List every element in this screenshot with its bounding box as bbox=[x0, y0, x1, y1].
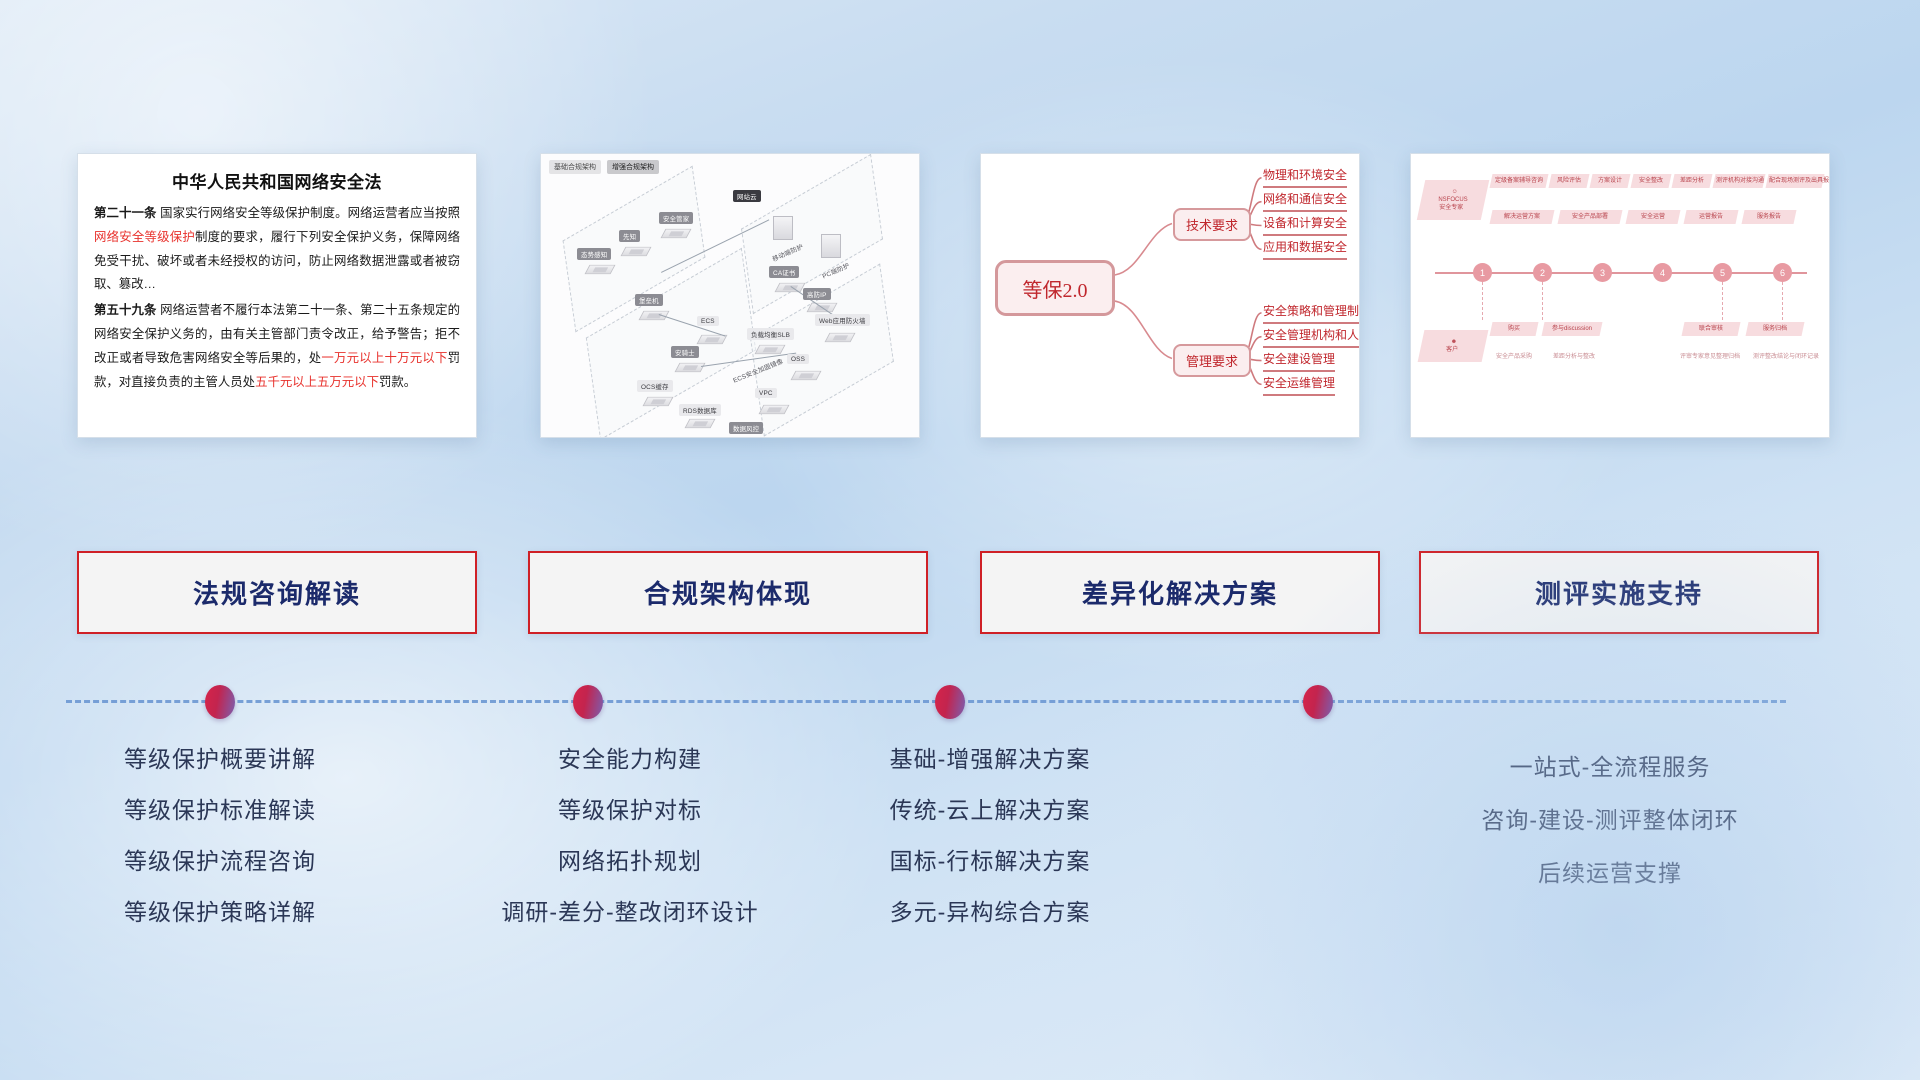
nsfocus-top-tag-2: 风险评估 bbox=[1549, 174, 1590, 188]
nsfocus-customer-badge: ☻ 客户 bbox=[1418, 330, 1489, 362]
detail-item: 传统-云上解决方案 bbox=[790, 799, 1190, 822]
node-box-waf bbox=[825, 333, 856, 342]
nsfocus-top-tag-7: 配合现场测评及出具报告材料 bbox=[1766, 174, 1825, 188]
detail-item: 调研-差分-整改闭环设计 bbox=[430, 901, 830, 924]
detail-column-4: 一站式-全流程服务 咨询-建设-测评整体闭环 后续运营支撑 bbox=[1410, 756, 1810, 915]
detail-item: 等级保护策略详解 bbox=[20, 901, 420, 924]
node-box-anqishi bbox=[675, 363, 706, 372]
node-server-mobile-protection bbox=[773, 216, 793, 240]
nsfocus-review-sub-1: 评审专家意见整理归档 bbox=[1672, 350, 1749, 364]
node-box-xianzhi bbox=[621, 247, 652, 256]
label-cloud-shield: 网站云 bbox=[733, 190, 761, 202]
card-compliance-architecture: 基础合规架构 增强合规架构 bbox=[540, 153, 920, 438]
nsfocus-expert-badge: ☺ NSFOCUS 安全专家 bbox=[1417, 180, 1490, 220]
law-21-run-1: 网络安全等级保护 bbox=[94, 230, 195, 244]
nsfocus-top-tag-5: 差距分析 bbox=[1672, 174, 1713, 188]
mindmap-root-node: 等保2.0 bbox=[995, 260, 1115, 316]
nsfocus-node-6: 6 bbox=[1773, 263, 1792, 282]
card-assessment-support: ☺ NSFOCUS 安全专家 定级备案辅导咨询 风险评估 方案设计 安全整改 差… bbox=[1410, 153, 1830, 438]
nsfocus-review-block-1: 联合审核 bbox=[1682, 322, 1741, 336]
nsfocus-node-4: 4 bbox=[1653, 263, 1672, 282]
timeline-dot-4 bbox=[1303, 685, 1333, 719]
detail-column-2: 安全能力构建 等级保护对标 网络拓扑规划 调研-差分-整改闭环设计 bbox=[430, 748, 830, 952]
label-ecs: ECS bbox=[697, 316, 719, 326]
label-ca-cert: CA证书 bbox=[769, 266, 799, 278]
timeline-dot-2 bbox=[573, 685, 603, 719]
nsfocus-dash-1 bbox=[1482, 282, 1483, 320]
nsfocus-review-block-2: 服务归档 bbox=[1746, 322, 1805, 336]
node-box-ca-cert bbox=[775, 283, 806, 292]
detail-item: 后续运营支撑 bbox=[1410, 862, 1810, 885]
nsfocus-top-tag-6: 测评机构对接沟通 bbox=[1713, 174, 1766, 188]
mindmap: 等保2.0 技术要求 管理要求 物理和环境安全 网络和通信安全 设备和计算安全 … bbox=[981, 154, 1359, 437]
plate-label-4: 测评实施支持 bbox=[1535, 574, 1703, 611]
label-anti-ddos: 高防IP bbox=[803, 288, 831, 300]
tab-basic-architecture[interactable]: 基础合规架构 bbox=[549, 160, 601, 174]
nsfocus-review-sub-2: 测评整改结论与闭环记录 bbox=[1748, 350, 1825, 364]
customer-person-icon: ☻ bbox=[1424, 338, 1484, 346]
law-59-run-1: 一万元以上十万元以下 bbox=[321, 351, 447, 365]
nsfocus-top-tag-1: 定级备案辅导咨询 bbox=[1490, 174, 1549, 188]
label-vpc: VPC bbox=[755, 388, 777, 398]
nsfocus-dash-4 bbox=[1782, 282, 1783, 320]
mindmap-leaf-construction-mgmt: 安全建设管理 bbox=[1263, 350, 1335, 372]
detail-item: 咨询-建设-测评整体闭环 bbox=[1410, 809, 1810, 832]
nsfocus-timeline-diagram: ☺ NSFOCUS 安全专家 定级备案辅导咨询 风险评估 方案设计 安全整改 差… bbox=[1411, 154, 1829, 437]
nsfocus-mid-tag-3: 安全运营 bbox=[1626, 210, 1681, 224]
label-oss: OSS bbox=[787, 354, 809, 364]
law-title: 中华人民共和国网络安全法 bbox=[94, 168, 460, 193]
mindmap-branch-management: 管理要求 bbox=[1173, 344, 1251, 377]
detail-item: 等级保护标准解读 bbox=[20, 799, 420, 822]
detail-item: 网络拓扑规划 bbox=[430, 850, 830, 873]
detail-item: 一站式-全流程服务 bbox=[1410, 756, 1810, 779]
timeline-dot-1 bbox=[205, 685, 235, 719]
label-situational-awareness: 态势感知 bbox=[577, 248, 611, 260]
node-box-security-steward bbox=[661, 229, 692, 238]
law-article-21: 第二十一条 国家实行网络安全等级保护制度。网络运营者应当按照网络安全等级保护制度… bbox=[94, 202, 460, 297]
mindmap-branch-technical: 技术要求 bbox=[1173, 208, 1251, 241]
plate-label-1: 法规咨询解读 bbox=[193, 574, 361, 611]
slide-root: 中华人民共和国网络安全法 第二十一条 国家实行网络安全等级保护制度。网络运营者应… bbox=[0, 0, 1920, 1080]
expert-line2: 安全专家 bbox=[1421, 204, 1481, 212]
nsfocus-top-tag-4: 安全整改 bbox=[1631, 174, 1672, 188]
label-rds: RDS数据库 bbox=[679, 404, 721, 416]
card-djcp-mindmap: 等保2.0 技术要求 管理要求 物理和环境安全 网络和通信安全 设备和计算安全 … bbox=[980, 153, 1360, 438]
nsfocus-dash-3 bbox=[1722, 282, 1723, 320]
expert-line1: NSFOCUS bbox=[1423, 196, 1483, 204]
detail-item: 国标-行标解决方案 bbox=[790, 850, 1190, 873]
image-card-row: 中华人民共和国网络安全法 第二十一条 国家实行网络安全等级保护制度。网络运营者应… bbox=[0, 0, 1920, 440]
mindmap-leaf-device-compute: 设备和计算安全 bbox=[1263, 214, 1347, 236]
mindmap-leaf-app-data: 应用和数据安全 bbox=[1263, 238, 1347, 260]
nsfocus-bottom-tag-participate: 参与discussion bbox=[1542, 322, 1603, 336]
law-59-run-3: 五千元以上五万元以下 bbox=[255, 375, 379, 389]
node-box-rds bbox=[685, 419, 716, 428]
card-cybersecurity-law: 中华人民共和国网络安全法 第二十一条 国家实行网络安全等级保护制度。网络运营者应… bbox=[77, 153, 477, 438]
law-article-59: 第五十九条 网络运营者不履行本法第二十一条、第二十五条规定的网络安全保护义务的，… bbox=[94, 299, 460, 394]
node-box-ocs-cache bbox=[643, 397, 674, 406]
label-slb: 负载均衡SLB bbox=[747, 328, 794, 340]
node-box-slb bbox=[755, 345, 786, 354]
expert-person-icon: ☺ bbox=[1425, 188, 1485, 196]
timeline-dot-3 bbox=[935, 685, 965, 719]
plate-assessment-support[interactable]: 测评实施支持 bbox=[1419, 551, 1819, 634]
plate-label-3: 差异化解决方案 bbox=[1082, 574, 1278, 611]
nsfocus-mid-tag-4: 运营报告 bbox=[1684, 210, 1739, 224]
node-box-ecs bbox=[697, 335, 728, 344]
node-box-oss bbox=[791, 371, 822, 380]
mindmap-leaf-ops-mgmt: 安全运维管理 bbox=[1263, 374, 1335, 396]
nsfocus-mid-tag-1: 解决运营方案 bbox=[1490, 210, 1555, 224]
law-article-21-number: 第二十一条 bbox=[94, 206, 157, 220]
detail-column-1: 等级保护概要讲解 等级保护标准解读 等级保护流程咨询 等级保护策略详解 bbox=[20, 748, 420, 952]
label-ocs-cache: OCS缓存 bbox=[637, 380, 673, 392]
label-bastion-host: 堡垒机 bbox=[635, 294, 663, 306]
nsfocus-node-2: 2 bbox=[1533, 263, 1552, 282]
law-59-run-4: 罚款。 bbox=[379, 375, 416, 389]
label-security-steward: 安全管家 bbox=[659, 212, 693, 224]
network-architecture-diagram: 基础合规架构 增强合规架构 bbox=[541, 154, 919, 437]
tab-enhanced-architecture[interactable]: 增强合规架构 bbox=[607, 160, 659, 174]
detail-item: 等级保护流程咨询 bbox=[20, 850, 420, 873]
law-article-59-number: 第五十九条 bbox=[94, 303, 157, 317]
label-data-risk-control: 数据风控 bbox=[729, 422, 763, 434]
architecture-tabs: 基础合规架构 增强合规架构 bbox=[549, 160, 659, 174]
plate-compliance-architecture[interactable]: 合规架构体现 bbox=[528, 551, 928, 634]
customer-title: 客户 bbox=[1422, 346, 1482, 354]
nsfocus-bottom-sub-2: 差距分析与整改 bbox=[1544, 350, 1605, 364]
nsfocus-top-tag-3: 方案设计 bbox=[1590, 174, 1631, 188]
node-box-vpc bbox=[759, 405, 790, 414]
nsfocus-bottom-tag-purchase: 购买 bbox=[1490, 322, 1539, 336]
detail-item: 多元-异构综合方案 bbox=[790, 901, 1190, 924]
nsfocus-mid-tag-5: 服务报告 bbox=[1742, 210, 1797, 224]
mindmap-leaf-policy-system: 安全策略和管理制度 bbox=[1263, 302, 1360, 324]
nsfocus-node-1: 1 bbox=[1473, 263, 1492, 282]
nsfocus-node-5: 5 bbox=[1713, 263, 1732, 282]
detail-item: 安全能力构建 bbox=[430, 748, 830, 771]
node-box-situational-awareness bbox=[585, 265, 616, 274]
nsfocus-node-3: 3 bbox=[1593, 263, 1612, 282]
detail-item: 等级保护概要讲解 bbox=[20, 748, 420, 771]
plate-differentiated-solution[interactable]: 差异化解决方案 bbox=[980, 551, 1380, 634]
detail-item: 等级保护对标 bbox=[430, 799, 830, 822]
nsfocus-bottom-sub-1: 安全产品采购 bbox=[1486, 350, 1543, 364]
detail-column-3: 基础-增强解决方案 传统-云上解决方案 国标-行标解决方案 多元-异构综合方案 bbox=[790, 748, 1190, 952]
detail-item: 基础-增强解决方案 bbox=[790, 748, 1190, 771]
label-anqishi: 安骑士 bbox=[671, 346, 699, 358]
label-xianzhi: 先知 bbox=[619, 230, 640, 242]
mindmap-leaf-physical-env: 物理和环境安全 bbox=[1263, 166, 1347, 188]
mindmap-leaf-network-comm: 网络和通信安全 bbox=[1263, 190, 1347, 212]
timeline-dashed-line bbox=[66, 700, 1786, 703]
plate-label-2: 合规架构体现 bbox=[644, 574, 812, 611]
node-server-pc-protection bbox=[821, 234, 841, 258]
nsfocus-mid-tag-2: 安全产品部署 bbox=[1558, 210, 1623, 224]
nsfocus-dash-2 bbox=[1542, 282, 1543, 320]
law-21-run-0: 国家实行网络安全等级保护制度。网络运营者应当按照 bbox=[157, 206, 460, 220]
plate-regulation-consulting[interactable]: 法规咨询解读 bbox=[77, 551, 477, 634]
mindmap-leaf-org-personnel: 安全管理机构和人员 bbox=[1263, 326, 1360, 348]
label-waf: Web应用防火墙 bbox=[815, 314, 870, 326]
